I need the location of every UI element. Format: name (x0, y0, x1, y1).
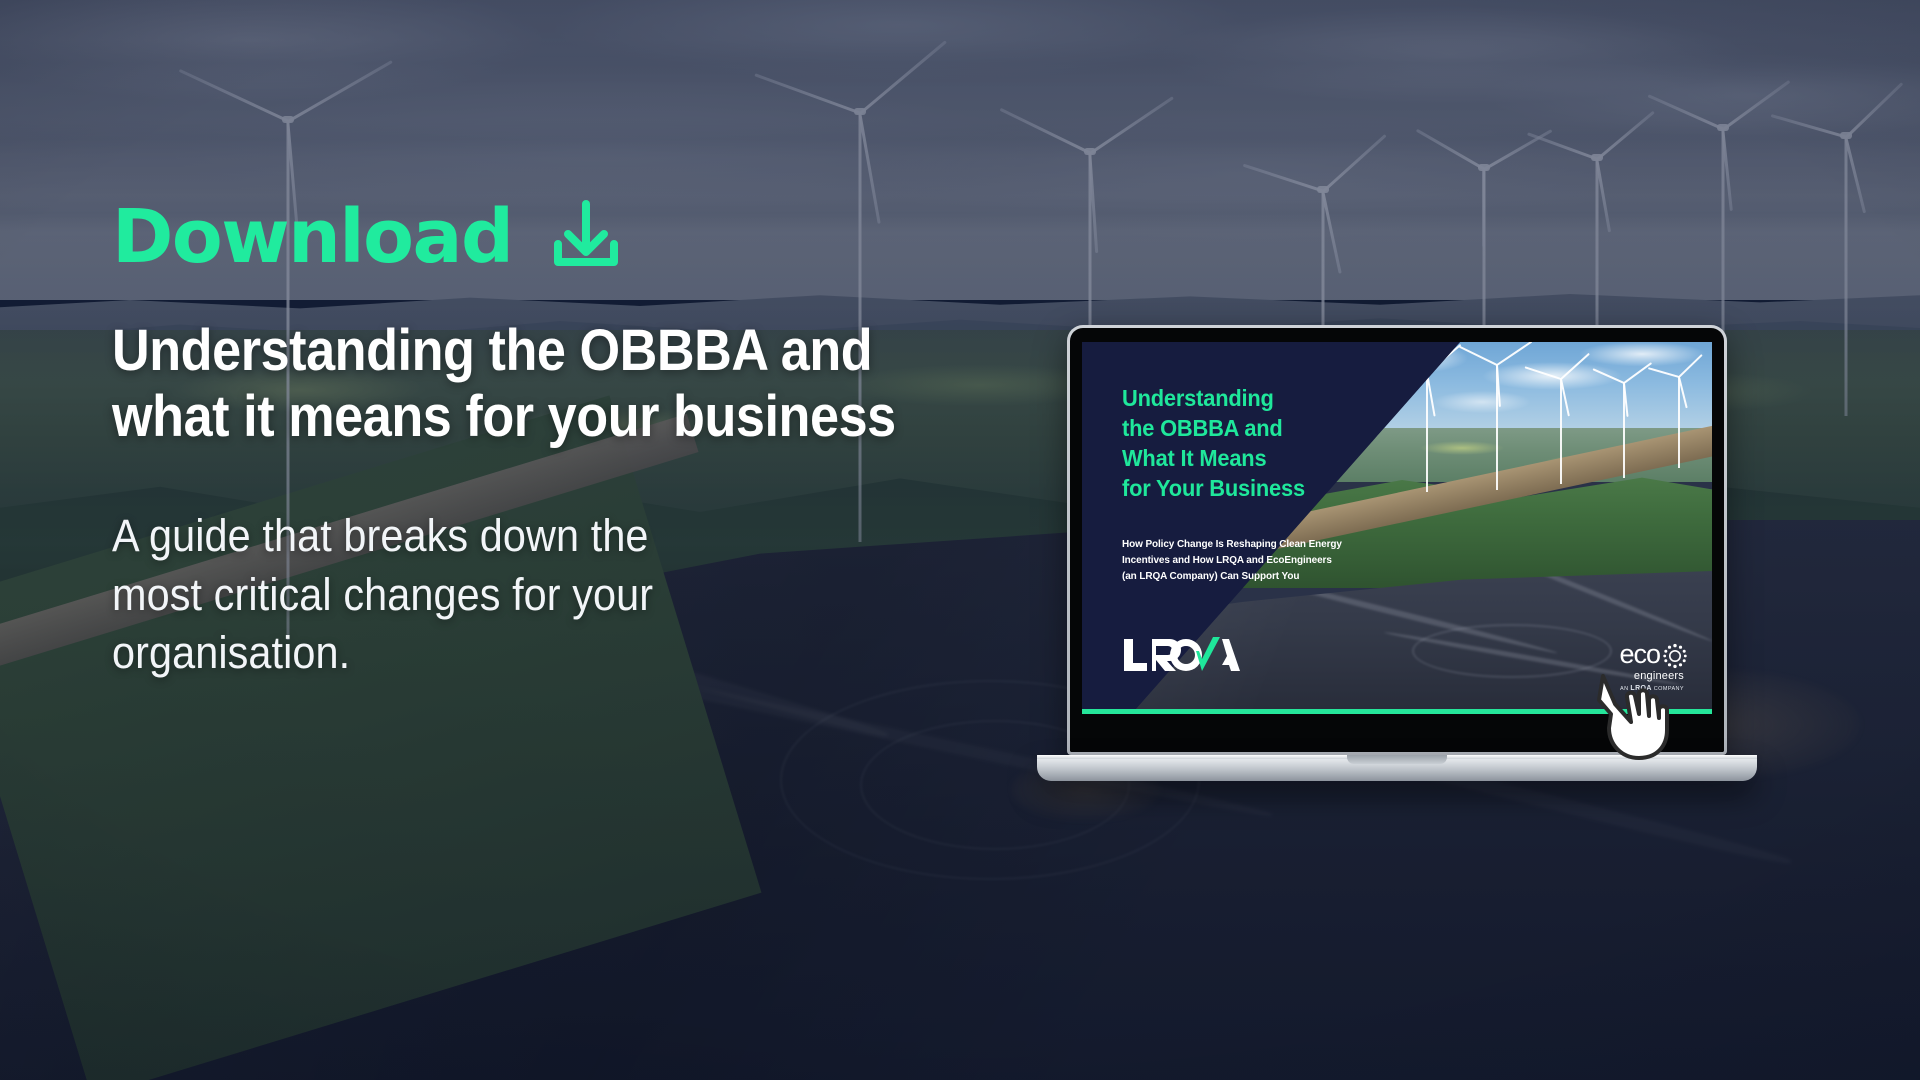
ecoengineers-wordmark: eco (1619, 639, 1660, 669)
cover-content: Understanding the OBBBA and What It Mean… (1082, 342, 1712, 720)
download-arrow-icon[interactable] (546, 200, 626, 274)
sunburst-icon (1662, 643, 1688, 669)
download-row: Download (112, 200, 1092, 274)
cover-title: Understanding the OBBBA and What It Mean… (1122, 384, 1683, 504)
page-title: Understanding the OBBBA and what it mean… (112, 318, 994, 449)
lrqa-logo (1122, 637, 1240, 678)
laptop-mockup: Understanding the OBBBA and What It Mean… (1037, 325, 1757, 781)
ebook-cover[interactable]: Understanding the OBBBA and What It Mean… (1082, 342, 1712, 720)
promo-description: A guide that breaks down the most critic… (112, 507, 1014, 683)
laptop-base-notch (1347, 755, 1447, 764)
cover-subtitle: How Policy Change Is Reshaping Clean Ene… (1122, 536, 1683, 585)
download-eyebrow-label: Download (112, 200, 512, 274)
hand-pointer-cursor-icon[interactable] (1597, 670, 1675, 766)
lrqa-logo-mark (1122, 637, 1240, 673)
promo-copy-block: Download Understanding the OBBBA and wha… (112, 200, 1092, 683)
